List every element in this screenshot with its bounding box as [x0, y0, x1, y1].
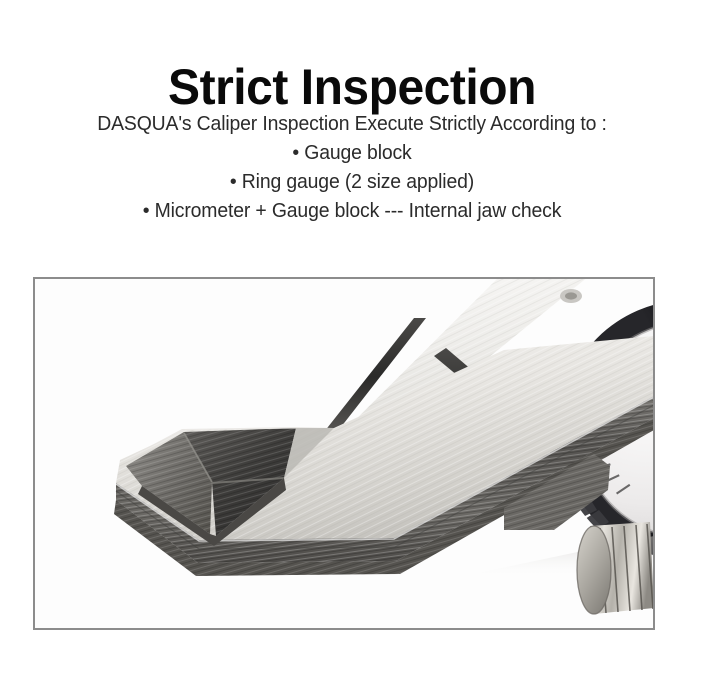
caliper-photo — [33, 277, 655, 630]
description-block: DASQUA's Caliper Inspection Execute Stri… — [0, 110, 704, 226]
description-line-intro: DASQUA's Caliper Inspection Execute Stri… — [11, 110, 694, 139]
poster-page: Strict Inspection DASQUA's Caliper Inspe… — [0, 0, 704, 700]
caliper-photo-illustration — [34, 278, 654, 629]
description-line-bullet-ring-gauge: • Ring gauge (2 size applied) — [11, 168, 694, 197]
rivet-hole — [560, 289, 582, 303]
description-line-bullet-gauge-block: • Gauge block — [11, 139, 694, 168]
description-line-bullet-micrometer: • Micrometer + Gauge block --- Internal … — [11, 197, 694, 226]
page-title: Strict Inspection — [14, 60, 690, 114]
knurled-thumb-roller — [577, 522, 654, 614]
